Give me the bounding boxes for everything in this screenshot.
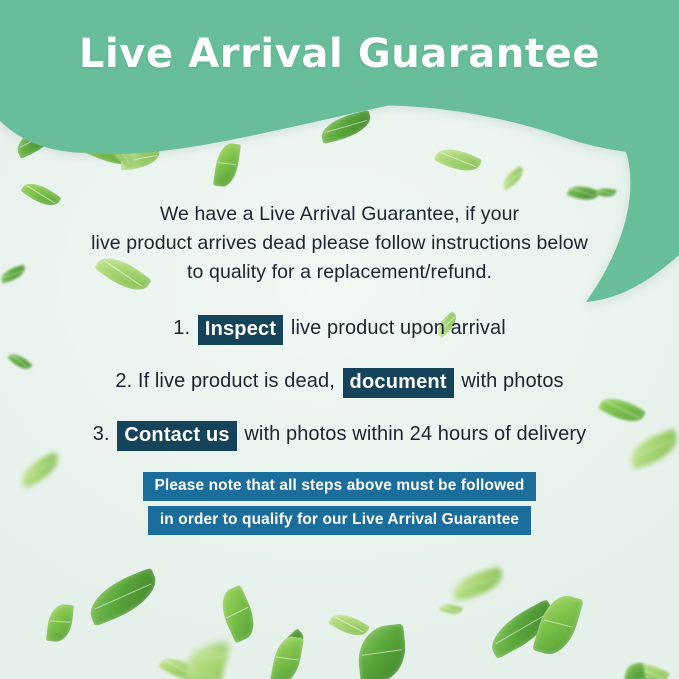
step-item-3: 3. Contact us with photos within 24 hour… xyxy=(0,419,679,450)
leaf-icon xyxy=(12,119,63,159)
leaf-icon xyxy=(626,657,670,679)
steps-list: 1. Inspect live product upon arrival 2. … xyxy=(0,313,679,450)
step-number: 2. xyxy=(115,370,132,392)
live-arrival-guarantee-card: Live Arrival Guarantee We have a Live Ar… xyxy=(0,0,679,679)
note-banner-line-2: in order to qualify for our Live Arrival… xyxy=(148,506,531,535)
step-text-after: live product upon arrival xyxy=(291,317,506,339)
step-item-1: 1. Inspect live product upon arrival xyxy=(0,313,679,344)
leaf-icon xyxy=(46,603,74,643)
leaf-icon xyxy=(621,662,649,679)
step-text-after: with photos within 24 hours of delivery xyxy=(244,423,586,445)
leaf-icon xyxy=(270,634,304,679)
leaf-icon xyxy=(215,585,262,644)
leaf-icon xyxy=(355,624,409,679)
step-item-2: 2. If live product is dead, document wit… xyxy=(0,366,679,397)
leaf-icon xyxy=(213,142,241,189)
page-title: Live Arrival Guarantee xyxy=(0,31,679,77)
leaf-icon xyxy=(328,608,370,643)
intro-line: to quality for a replacement/refund. xyxy=(58,258,621,287)
leaf-icon xyxy=(499,166,527,191)
leaf-icon xyxy=(318,110,374,144)
step-number: 1. xyxy=(173,317,190,339)
leaf-icon xyxy=(119,147,161,170)
leaf-icon xyxy=(267,628,311,672)
content-area: We have a Live Arrival Guarantee, if you… xyxy=(0,200,679,540)
step-highlight-document[interactable]: document xyxy=(343,368,454,398)
leaf-icon xyxy=(434,142,482,178)
leaf-icon xyxy=(439,601,463,617)
step-highlight-inspect[interactable]: Inspect xyxy=(198,315,283,345)
leaf-icon xyxy=(532,590,584,660)
note-banner-line-1: Please note that all steps above must be… xyxy=(143,472,537,501)
intro-paragraph: We have a Live Arrival Guarantee, if you… xyxy=(0,200,679,287)
leaf-icon xyxy=(595,186,616,199)
step-text-after: with photos xyxy=(461,370,563,392)
leaf-icon xyxy=(82,567,163,626)
step-number: 3. xyxy=(93,423,110,445)
leaf-icon xyxy=(450,566,506,602)
note-banner-group: Please note that all steps above must be… xyxy=(0,472,679,535)
intro-line: We have a Live Arrival Guarantee, if you… xyxy=(58,200,621,229)
leaf-icon xyxy=(180,645,229,679)
leaf-icon xyxy=(483,599,561,659)
step-text-before: If live product is dead, xyxy=(138,370,335,392)
leaf-icon xyxy=(158,651,202,679)
leaf-icon xyxy=(109,139,137,172)
step-highlight-contact-us[interactable]: Contact us xyxy=(117,421,236,451)
intro-line: live product arrives dead please follow … xyxy=(58,229,621,258)
leaf-icon xyxy=(184,642,231,671)
leaf-icon xyxy=(83,128,147,174)
